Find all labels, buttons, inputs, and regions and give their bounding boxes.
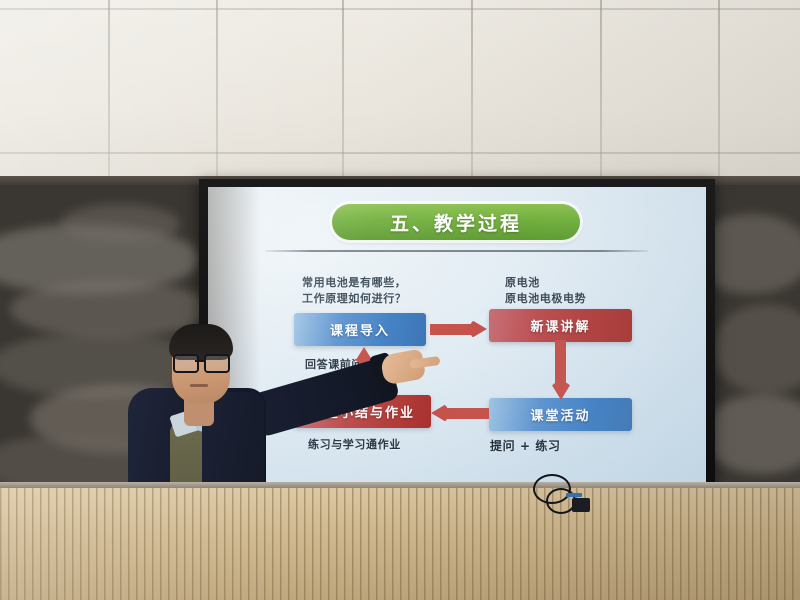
note-question-line1: 常用电池是有哪些，	[302, 275, 406, 291]
slide-title: 五、教学过程	[390, 209, 522, 236]
title-divider	[265, 250, 648, 252]
flow-box-new-lesson: 新课讲解	[489, 309, 632, 342]
note-question: 常用电池是有哪些， 工作原理如何进行？	[302, 275, 406, 307]
note-topic-line1: 原电池	[505, 275, 586, 291]
arrow-right-icon	[430, 319, 488, 339]
wall-panels	[0, 0, 800, 182]
chalkboard-right	[712, 184, 800, 514]
slide-title-pill: 五、教学过程	[332, 204, 580, 240]
caption-question-practice: 提问 + 练习	[490, 438, 561, 454]
cable-connector	[572, 498, 590, 512]
note-topic-line2: 原电池电极电势	[505, 291, 586, 307]
glasses-icon	[173, 354, 230, 369]
flow-box-class-activity: 课堂活动	[489, 398, 632, 431]
wood-slat-wainscot	[0, 488, 800, 600]
cable-blue	[566, 493, 582, 497]
arrow-left-icon	[431, 403, 489, 423]
arrow-down-icon	[550, 340, 572, 400]
note-topic: 原电池 原电池电极电势	[505, 275, 586, 307]
note-question-line2: 工作原理如何进行？	[302, 291, 406, 307]
classroom-photo: 五、教学过程 常用电池是有哪些， 工作原理如何进行？ 原电池 原电池电极电势 回…	[0, 0, 800, 600]
